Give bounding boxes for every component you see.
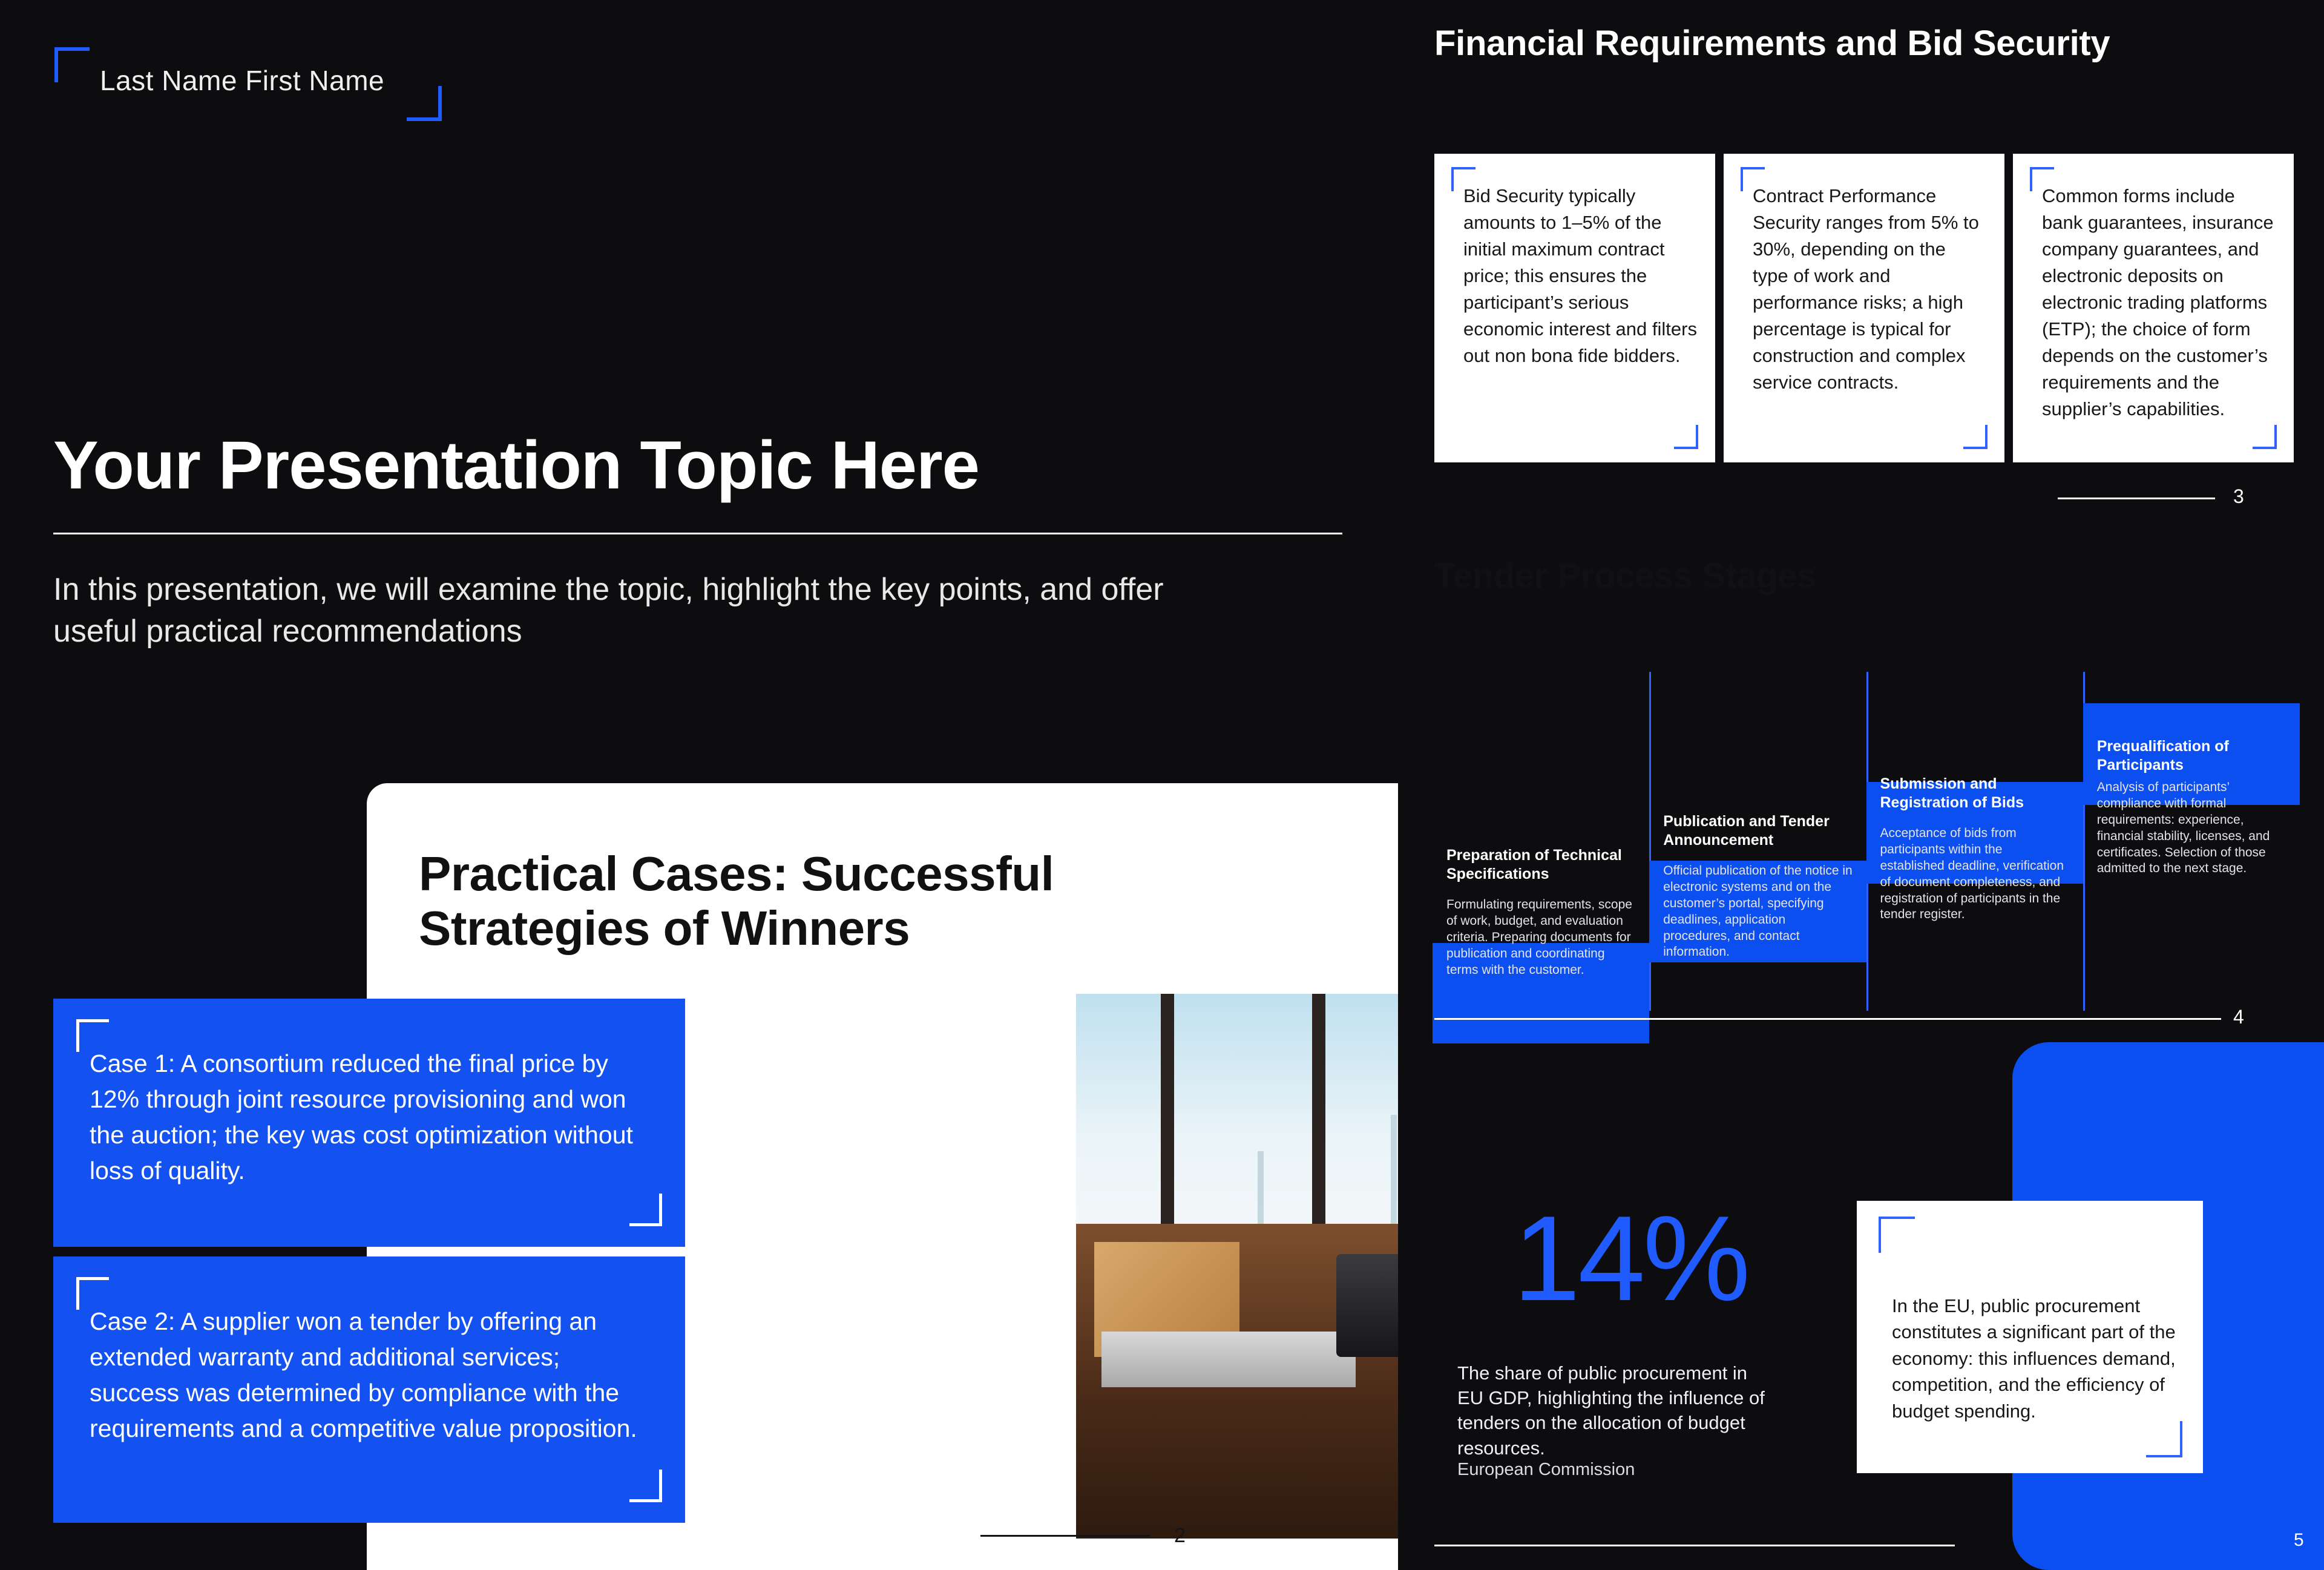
window-mullion (1312, 994, 1325, 1224)
corner-bracket-bottom-right-icon (1674, 425, 1698, 449)
window-sky (1076, 994, 1398, 1230)
statistic-card-text: In the EU, public procurement constitute… (1892, 1293, 2178, 1424)
stage-3-body: Acceptance of bids from participants wit… (1880, 826, 2070, 923)
page-number-rule (980, 1535, 1150, 1537)
corner-bracket-bottom-right-icon (407, 86, 442, 121)
stage-2-heading: Publication and Tender Announcement (1663, 812, 1853, 849)
stage-1-heading: Preparation of Technical Specifications (1446, 846, 1636, 883)
case-card-1: Case 1: A consortium reduced the final p… (53, 999, 685, 1247)
page-number: 4 (2233, 1006, 2244, 1028)
page-number-rule (1434, 1545, 1955, 1546)
camera-object (1336, 1254, 1398, 1357)
stage-4-heading: Prequalification of Participants (2097, 737, 2286, 774)
case-card-1-text: Case 1: A consortium reduced the final p… (90, 1046, 654, 1189)
subtitle-text: In this presentation, we will examine th… (53, 569, 1173, 652)
financial-title: Financial Requirements and Bid Security (1434, 23, 2110, 64)
corner-bracket-top-left-icon (54, 47, 90, 82)
financial-card-1-text: Bid Security typically amounts to 1–5% o… (1463, 183, 1697, 369)
cases-title: Practical Cases: Successful Strategies o… (419, 847, 1206, 955)
document-tray (1101, 1332, 1356, 1387)
stage-2-body: Official publication of the notice in el… (1663, 863, 1853, 961)
corner-bracket-top-left-icon (1879, 1217, 1915, 1253)
window-mullion (1161, 994, 1174, 1224)
financial-card-1: Bid Security typically amounts to 1–5% o… (1434, 154, 1715, 462)
financial-card-3: Common forms include bank guarantees, in… (2013, 154, 2294, 462)
financial-card-3-text: Common forms include bank guarantees, in… (2042, 183, 2276, 422)
stage-column-1: Preparation of Technical Specifications … (1434, 672, 1649, 1011)
author-name: Last Name First Name (100, 64, 384, 97)
statistic-caption: The share of public procurement in EU GD… (1457, 1361, 1772, 1460)
title-divider (53, 533, 1342, 534)
presentation-canvas: Last Name First Name Your Presentation T… (0, 0, 2324, 1570)
corner-bracket-bottom-right-icon (2146, 1421, 2182, 1457)
page-number: 5 (2294, 1530, 2304, 1551)
page-number: 3 (2233, 485, 2244, 508)
page-title: Your Presentation Topic Here (53, 430, 1342, 501)
financial-card-2-text: Contract Performance Security ranges fro… (1753, 183, 1986, 396)
city-skyline (1258, 1151, 1264, 1224)
case-card-2: Case 2: A supplier won a tender by offer… (53, 1256, 685, 1523)
stage-column-4: Prequalification of Participants Analysi… (2083, 672, 2300, 1011)
stage-4-body: Analysis of participants’ compliance wit… (2097, 780, 2286, 877)
financial-card-2: Contract Performance Security ranges fro… (1724, 154, 2004, 462)
page-number: 2 (1174, 1524, 1186, 1548)
statistic-detail-card: In the EU, public procurement constitute… (1857, 1201, 2203, 1473)
stage-column-3: Submission and Registration of Bids Acce… (1866, 672, 2083, 1011)
statistic-source: European Commission (1457, 1460, 1635, 1480)
stage-1-body: Formulating requirements, scope of work,… (1446, 897, 1636, 978)
stage-3-heading: Submission and Registration of Bids (1880, 775, 2070, 812)
corner-bracket-bottom-right-icon (629, 1470, 662, 1502)
stages-title: Tender Process Stages (1434, 556, 1816, 596)
financial-card-group: Bid Security typically amounts to 1–5% o… (1434, 154, 2294, 462)
corner-bracket-bottom-right-icon (1963, 425, 1988, 449)
corner-bracket-bottom-right-icon (2253, 425, 2277, 449)
page-number-rule (1434, 1018, 2221, 1020)
stage-timeline: Preparation of Technical Specifications … (1434, 672, 2300, 1011)
page-number-rule (2058, 498, 2215, 499)
author-name-badge: Last Name First Name (54, 47, 442, 121)
statistic-value: 14% (1513, 1198, 1748, 1319)
office-desk-photo (1076, 994, 1398, 1539)
stage-column-2: Publication and Tender Announcement Offi… (1649, 672, 1866, 1011)
city-skyline (1391, 1115, 1397, 1224)
case-card-2-text: Case 2: A supplier won a tender by offer… (90, 1304, 654, 1447)
corner-bracket-bottom-right-icon (629, 1194, 662, 1226)
